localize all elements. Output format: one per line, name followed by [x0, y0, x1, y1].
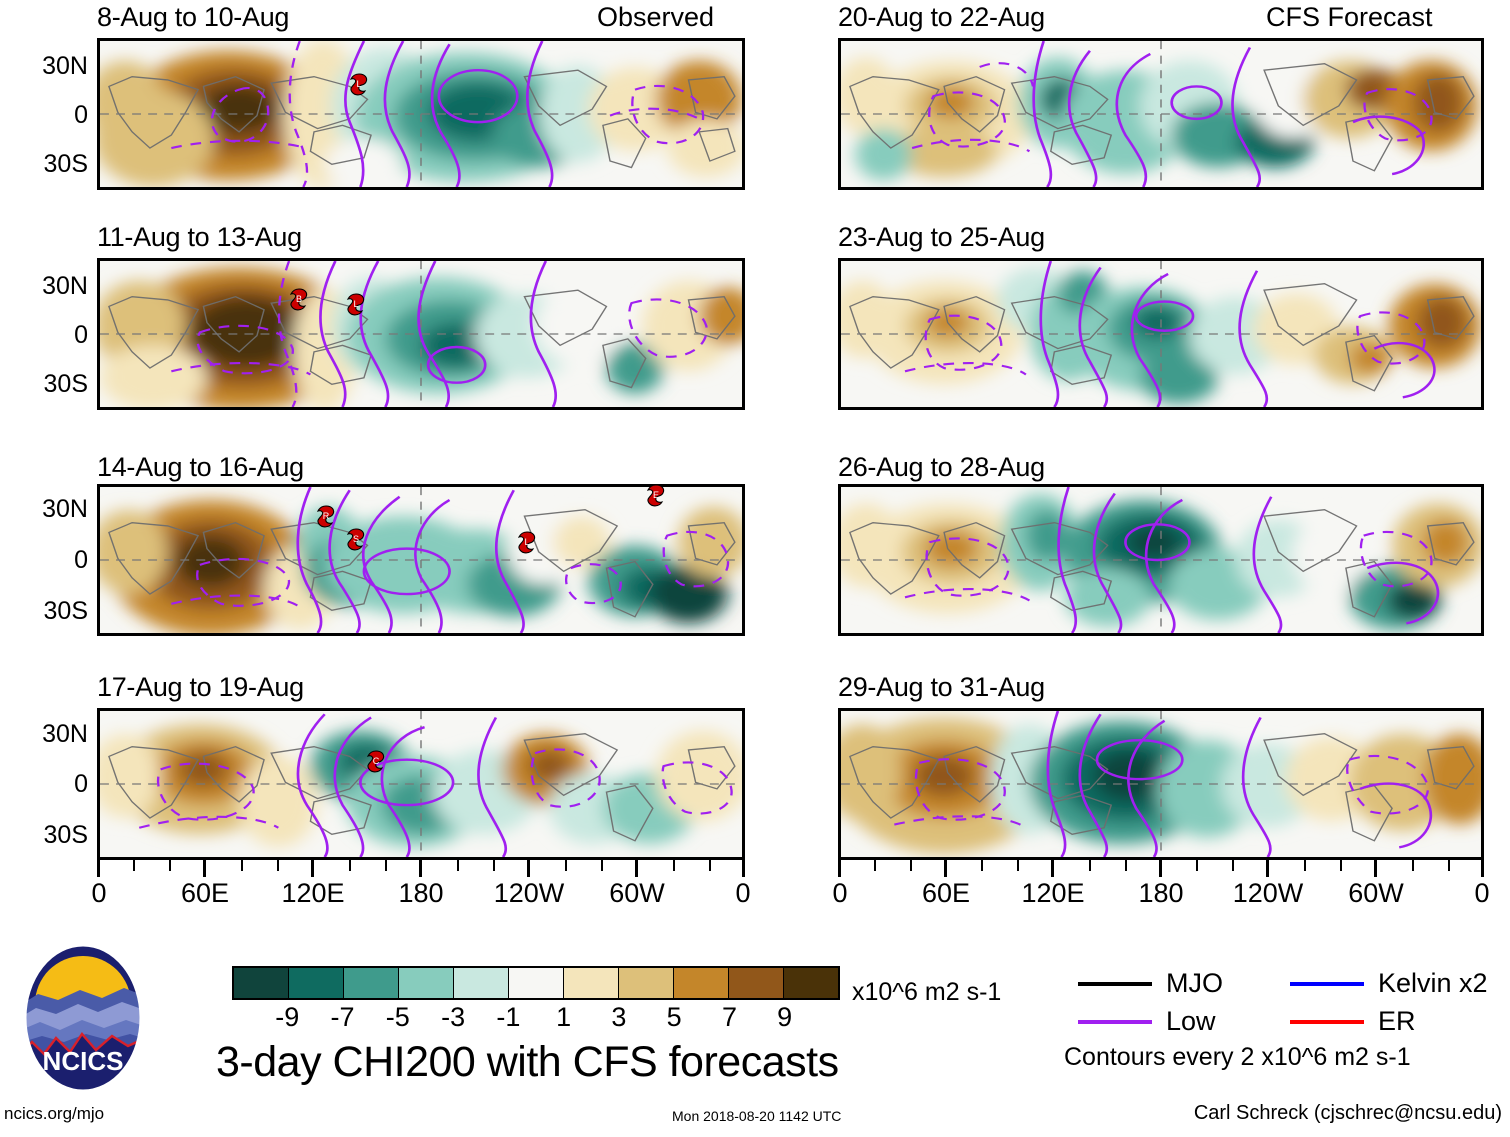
xaxis-forecast: 0 60E 120E 180 120W 60W 0 [838, 860, 1484, 900]
xtick-120w: 120W [494, 878, 565, 909]
colorbar-swatch-0 [234, 968, 289, 998]
map-field-6 [841, 487, 1481, 633]
ytick-30n: 30N [4, 720, 88, 749]
svg-text:R: R [323, 511, 330, 521]
colorbar-tick-9: 9 [777, 1002, 792, 1033]
legend-item-low: Low [1078, 1006, 1216, 1037]
map-field-4 [841, 41, 1481, 187]
colorbar-swatch-6 [564, 968, 619, 998]
panel-title: 14-Aug to 16-Aug [97, 452, 304, 483]
xaxis-observed: 0 60E 120E 180 120W 60W 0 [97, 860, 745, 900]
map-field-7 [841, 711, 1481, 857]
colorbar-swatch-1 [289, 968, 344, 998]
colorbar-tick-4: -1 [496, 1002, 520, 1033]
colorbar-swatch-4 [454, 968, 509, 998]
map-field-3 [100, 711, 742, 857]
xtick-180: 180 [1138, 878, 1183, 909]
map-field-0 [100, 41, 742, 187]
footer-timestamp: Mon 2018-08-20 1142 UTC [672, 1108, 841, 1124]
colorbar-tick-0: -9 [275, 1002, 299, 1033]
colorbar-swatch-5 [509, 968, 564, 998]
ytick-0: 0 [4, 546, 88, 575]
legend-item-mjo: MJO [1078, 968, 1223, 999]
xtick-360: 0 [735, 878, 750, 909]
panel-title: 26-Aug to 28-Aug [838, 452, 1045, 483]
panel-title: 17-Aug to 19-Aug [97, 672, 304, 703]
svg-text:C: C [373, 756, 380, 766]
ytick-30s: 30S [4, 370, 88, 399]
legend-label-mjo: MJO [1166, 968, 1223, 999]
xtick-180: 180 [398, 878, 443, 909]
colorbar-tick-6: 3 [611, 1002, 626, 1033]
svg-text:S: S [353, 534, 359, 544]
panel-title: 20-Aug to 22-Aug [838, 2, 1045, 33]
svg-text:L: L [353, 299, 358, 309]
colorbar-swatch-8 [674, 968, 729, 998]
map-panel-5[interactable] [838, 258, 1484, 410]
storm-marker-L: L [516, 531, 538, 560]
ytick-0: 0 [4, 770, 88, 799]
legend-item-kelvin: Kelvin x2 [1290, 968, 1488, 999]
xtick-60e: 60E [181, 878, 229, 909]
colorbar-tick-2: -5 [386, 1002, 410, 1033]
colorbar-swatch-3 [399, 968, 454, 998]
legend-swatch-er [1290, 1020, 1364, 1024]
legend-swatch-kelvin [1290, 982, 1364, 986]
colorbar[interactable] [232, 966, 840, 1000]
footer-website[interactable]: ncics.org/mjo [4, 1104, 104, 1124]
colorbar-swatch-7 [619, 968, 674, 998]
legend-label-kelvin: Kelvin x2 [1378, 968, 1488, 999]
colorbar-tick-5: 1 [556, 1002, 571, 1033]
map-field-5 [841, 261, 1481, 407]
map-panel-4[interactable] [838, 38, 1484, 190]
colorbar-swatch-9 [729, 968, 784, 998]
xtick-120e: 120E [281, 878, 344, 909]
xtick-0: 0 [832, 878, 847, 909]
ytick-30s: 30S [4, 597, 88, 626]
storm-marker-B: B [288, 288, 310, 317]
xtick-60e: 60E [922, 878, 970, 909]
ytick-30s: 30S [4, 150, 88, 179]
colorbar-tick-8: 7 [722, 1002, 737, 1033]
contour-interval-note: Contours every 2 x10^6 m2 s-1 [1064, 1043, 1411, 1072]
ytick-30n: 30N [4, 52, 88, 81]
legend-swatch-mjo [1078, 982, 1152, 986]
map-field-1 [100, 261, 742, 407]
legend-label-low: Low [1166, 1006, 1216, 1037]
storm-marker-C: C [365, 750, 387, 779]
ytick-0: 0 [4, 101, 88, 130]
legend-item-er: ER [1290, 1006, 1416, 1037]
xtick-120e: 120E [1021, 878, 1084, 909]
column-header-forecast: CFS Forecast [1266, 2, 1433, 33]
map-panel-6[interactable] [838, 484, 1484, 636]
storm-marker-L: L [345, 293, 367, 322]
storm-marker-L: L [348, 73, 370, 102]
xtick-120w: 120W [1233, 878, 1304, 909]
svg-text:L: L [356, 79, 361, 89]
legend-label-er: ER [1378, 1006, 1416, 1037]
svg-text:B: B [296, 294, 302, 304]
svg-text:E: E [653, 490, 659, 500]
xtick-60w: 60W [1348, 878, 1404, 909]
colorbar-ticklabels: -9 -7 -5 -3 -1 1 3 5 7 9 [232, 1002, 840, 1032]
storm-marker-R: R [315, 505, 337, 534]
ytick-30n: 30N [4, 495, 88, 524]
ncics-logo: NCICS [22, 942, 144, 1094]
xtick-0: 0 [91, 878, 106, 909]
colorbar-swatch-10 [784, 968, 838, 998]
colorbar-swatch-2 [344, 968, 399, 998]
map-panel-0[interactable] [97, 38, 745, 190]
ytick-30s: 30S [4, 821, 88, 850]
colorbar-tick-1: -7 [330, 1002, 354, 1033]
column-header-observed: Observed [597, 2, 714, 33]
panel-title: 8-Aug to 10-Aug [97, 2, 289, 33]
legend-swatch-low [1078, 1020, 1152, 1024]
logo-text: NCICS [43, 1046, 124, 1076]
panel-title: 11-Aug to 13-Aug [97, 222, 302, 253]
xtick-60w: 60W [609, 878, 665, 909]
colorbar-tick-3: -3 [441, 1002, 465, 1033]
colorbar-tick-7: 5 [667, 1002, 682, 1033]
storm-marker-S: S [345, 528, 367, 557]
map-panel-1[interactable] [97, 258, 745, 410]
storm-marker-E: E [645, 484, 667, 513]
ytick-0: 0 [4, 321, 88, 350]
svg-text:L: L [524, 537, 529, 547]
panel-title: 29-Aug to 31-Aug [838, 672, 1045, 703]
page-title: 3-day CHI200 with CFS forecasts [216, 1038, 839, 1087]
map-panel-7[interactable] [838, 708, 1484, 860]
ytick-30n: 30N [4, 272, 88, 301]
colorbar-units: x10^6 m2 s-1 [852, 978, 1001, 1007]
xtick-360: 0 [1474, 878, 1489, 909]
map-panel-3[interactable] [97, 708, 745, 860]
footer-author[interactable]: Carl Schreck (cjschrec@ncsu.edu) [1194, 1102, 1502, 1125]
panel-title: 23-Aug to 25-Aug [838, 222, 1045, 253]
